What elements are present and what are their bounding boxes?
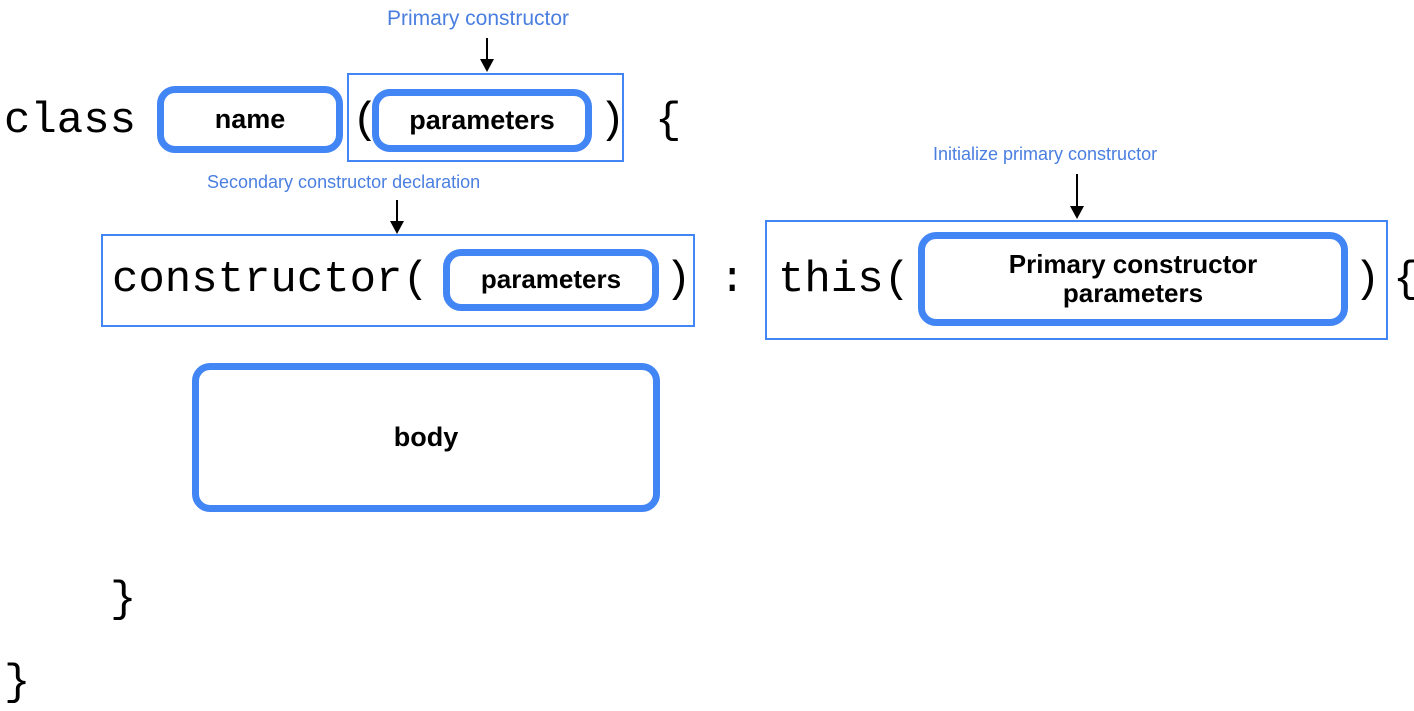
placeholder-primary-parameters-label: parameters [409, 105, 555, 135]
annotation-primary-constructor: Primary constructor [387, 8, 569, 29]
placeholder-pcp-line1: Primary constructor [1009, 250, 1258, 279]
placeholder-pcp-line2: parameters [1063, 279, 1203, 308]
placeholder-secondary-parameters-label: parameters [481, 265, 621, 294]
code-constructor-keyword: constructor( [112, 258, 429, 302]
placeholder-body[interactable]: body [192, 363, 660, 512]
code-open-brace-class: { [655, 99, 681, 143]
code-close-paren-primary: ) [599, 99, 625, 143]
placeholder-name[interactable]: name [157, 86, 343, 153]
code-close-paren-secondary: ) [665, 258, 691, 302]
placeholder-primary-constructor-parameters[interactable]: Primary constructor parameters [918, 232, 1348, 326]
code-this-keyword: this( [778, 258, 910, 302]
code-close-brace-secondary: } [110, 578, 136, 622]
code-open-brace-secondary: { [1393, 258, 1414, 302]
code-close-brace-class: } [4, 661, 30, 705]
arrow-secondary-constructor [390, 200, 404, 234]
placeholder-primary-parameters[interactable]: parameters [372, 89, 592, 152]
arrow-primary-constructor [480, 38, 494, 72]
annotation-secondary-constructor-declaration: Secondary constructor declaration [207, 173, 480, 191]
placeholder-name-label: name [215, 104, 286, 134]
code-colon: : [719, 258, 745, 302]
placeholder-secondary-parameters[interactable]: parameters [443, 249, 659, 311]
diagram-canvas: Primary constructor class name ( paramet… [0, 0, 1414, 711]
arrow-initialize-primary-constructor [1070, 174, 1084, 219]
placeholder-body-label: body [394, 422, 459, 452]
code-close-paren-this: ) [1354, 258, 1380, 302]
code-class-keyword: class [4, 99, 136, 143]
annotation-initialize-primary-constructor: Initialize primary constructor [933, 145, 1157, 163]
